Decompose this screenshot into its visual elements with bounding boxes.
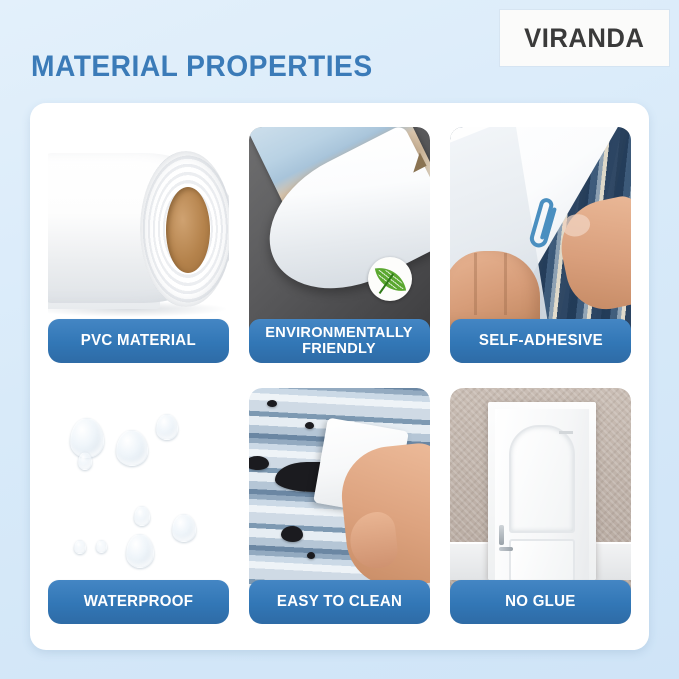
feature-grid: PVC MATERIAL ENVIRONMENTALLY FRIENDLY [48, 127, 631, 624]
feature-label: SELF-ADHESIVE [478, 333, 602, 349]
feature-label-banner: PVC MATERIAL [48, 319, 229, 363]
water-droplet [74, 540, 86, 554]
water-droplet [78, 452, 92, 470]
stain-mark [305, 422, 314, 429]
feature-label-banner: EASY TO CLEAN [249, 580, 430, 624]
water-droplet [134, 506, 150, 526]
feature-label: WATERPROOF [84, 594, 194, 610]
feature-label-banner: ENVIRONMENTALLY FRIENDLY [249, 319, 430, 363]
door-panel-top [509, 425, 575, 533]
stain-mark [307, 552, 315, 559]
feature-label-banner: SELF-ADHESIVE [450, 319, 631, 363]
feature-label: PVC MATERIAL [81, 333, 196, 349]
feature-label-line2: FRIENDLY [266, 341, 413, 357]
door-latch [559, 431, 573, 434]
door-frame [488, 402, 596, 580]
feature-label-banner: WATERPROOF [48, 580, 229, 624]
page-title: MATERIAL PROPERTIES [31, 50, 373, 84]
water-droplet [156, 414, 178, 440]
feature-card-no-glue[interactable]: NO GLUE [450, 388, 631, 624]
brand-logo-text: VIRANDA [524, 23, 644, 54]
feature-label-line1: ENVIRONMENTALLY [266, 325, 413, 341]
water-droplet [172, 514, 196, 542]
water-droplet [116, 430, 148, 466]
feature-card-pvc-material[interactable]: PVC MATERIAL [48, 127, 229, 363]
door-handle [499, 525, 504, 545]
leaf-icon [374, 263, 405, 294]
feature-label: NO GLUE [505, 594, 576, 610]
feature-card-waterproof[interactable]: WATERPROOF [48, 388, 229, 624]
feature-card-environmentally-friendly[interactable]: ENVIRONMENTALLY FRIENDLY [249, 127, 430, 363]
stain-mark [249, 456, 269, 470]
water-droplet [126, 534, 154, 568]
water-droplet [96, 540, 107, 553]
feature-card-self-adhesive[interactable]: SELF-ADHESIVE [450, 127, 631, 363]
drop-trail [124, 394, 126, 422]
roll-core [166, 187, 210, 273]
infographic-root: MATERIAL PROPERTIES VIRANDA PVC MATERIAL [0, 0, 679, 679]
door [495, 409, 589, 580]
stain-mark [281, 526, 303, 542]
brand-logo: VIRANDA [500, 10, 669, 66]
eco-badge [368, 257, 412, 301]
feature-card-easy-to-clean[interactable]: EASY TO CLEAN [249, 388, 430, 624]
stain-mark [267, 400, 277, 407]
door-panel-bottom [509, 539, 575, 582]
feature-label-banner: NO GLUE [450, 580, 631, 624]
feature-label: EASY TO CLEAN [277, 594, 402, 610]
